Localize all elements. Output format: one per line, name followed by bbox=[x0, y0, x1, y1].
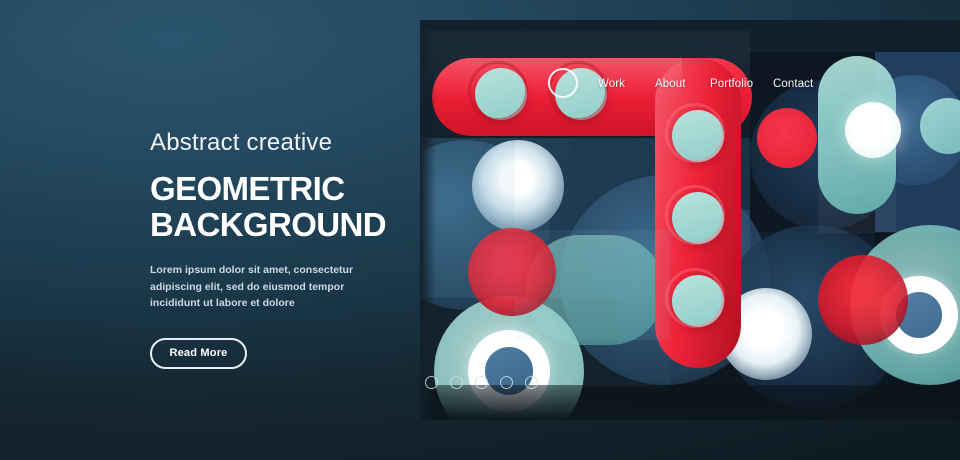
nav-item-work[interactable]: Work bbox=[598, 78, 625, 90]
nav-item-about[interactable]: About bbox=[655, 78, 686, 90]
halo-v3 bbox=[665, 268, 725, 328]
carousel-dots bbox=[425, 376, 538, 389]
top-navigation: Work About Portfolio Contact bbox=[0, 0, 960, 140]
carousel-dot-3[interactable] bbox=[475, 376, 488, 389]
nav-item-portfolio[interactable]: Portfolio bbox=[710, 78, 753, 90]
hero-banner: Abstract creative GEOMETRIC BACKGROUND L… bbox=[0, 0, 960, 460]
description-line-3: incididunt ut labore et dolore bbox=[150, 295, 365, 312]
carousel-dot-2[interactable] bbox=[450, 376, 463, 389]
headline-line-2: BACKGROUND bbox=[150, 207, 415, 242]
read-more-button[interactable]: Read More bbox=[150, 338, 247, 369]
hero-copy: Abstract creative GEOMETRIC BACKGROUND L… bbox=[150, 130, 415, 369]
hero-description: Lorem ipsum dolor sit amet, consectetur … bbox=[150, 262, 365, 312]
headline-line-1: GEOMETRIC bbox=[150, 171, 415, 206]
circle-logo-icon[interactable] bbox=[548, 68, 578, 98]
halo-v2 bbox=[665, 185, 725, 245]
carousel-dot-5[interactable] bbox=[525, 376, 538, 389]
description-line-1: Lorem ipsum dolor sit amet, consectetur bbox=[150, 262, 365, 279]
page-title: GEOMETRIC BACKGROUND bbox=[150, 171, 415, 242]
description-line-2: adipiscing elit, sed do eiusmod tempor bbox=[150, 279, 365, 296]
carousel-dot-4[interactable] bbox=[500, 376, 513, 389]
nav-item-contact[interactable]: Contact bbox=[773, 78, 813, 90]
carousel-dot-1[interactable] bbox=[425, 376, 438, 389]
